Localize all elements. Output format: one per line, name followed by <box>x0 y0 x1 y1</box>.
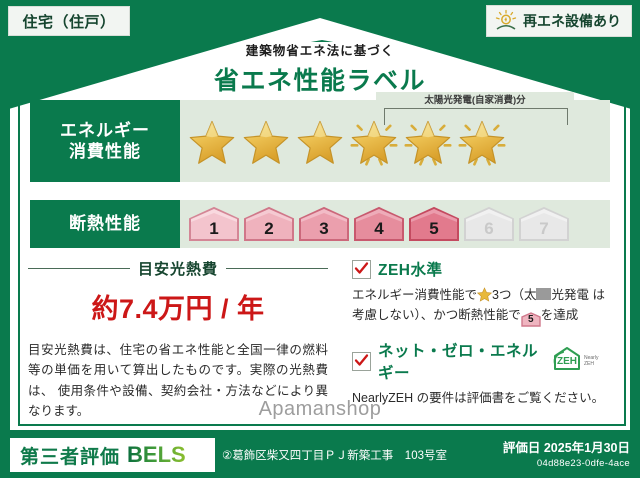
insulation-chip-2: 2 <box>243 206 295 242</box>
zeh-level-heading: ZEH水準 <box>352 258 610 280</box>
sun-icon <box>493 9 519 33</box>
chip-value: 5 <box>429 219 438 239</box>
property-address: ②葛飾区柴又四丁目ＰＪ新築工事 103号室 <box>222 447 447 463</box>
heading-rule-right <box>226 268 328 269</box>
label-title: 建築物省エネ法に基づく 省エネ性能ラベル <box>0 40 640 97</box>
insulation-chip-5: 5 <box>408 206 460 242</box>
star-base <box>186 115 238 167</box>
insulation-performance-row: 断熱性能 1 2 3 4 5 <box>30 200 610 248</box>
insulation-chip-7: 7 <box>518 206 570 242</box>
zeh-level-body: エネルギー消費性能で3つ（太光発電 は考慮しない）、かつ断熱性能で5を達成 <box>352 285 610 327</box>
inline-chip-value: 5 <box>528 314 534 325</box>
utility-cost-heading-text: 目安光熱費 <box>138 258 218 279</box>
zeh-text-a: エネルギー消費性能で <box>352 288 477 302</box>
energy-label-line1: エネルギー <box>60 120 150 141</box>
star-base <box>294 115 346 167</box>
footer-bar: 第三者評価 BELS ②葛飾区柴又四丁目ＰＪ新築工事 103号室 評価日 202… <box>0 432 640 478</box>
energy-label-line2: 消費性能 <box>69 141 141 162</box>
insulation-chip-1: 1 <box>188 206 240 242</box>
energy-performance-label: エネルギー 消費性能 <box>30 100 180 182</box>
svg-text:ZEH: ZEH <box>584 361 594 367</box>
renewable-badge-label: 再エネ設備あり <box>523 11 621 31</box>
utility-cost-heading: 目安光熱費 <box>28 258 328 279</box>
star-solar <box>348 115 400 167</box>
bels-label-page: 住宅（住戸） 再エネ設備あり 建築物省エネ法に基づく 省エネ性能ラベル <box>0 0 640 478</box>
zeh-level-checkbox <box>352 260 371 279</box>
solar-portion-caption: 太陽光発電(自家消費)分 <box>376 92 574 106</box>
chip-value: 2 <box>264 219 273 239</box>
inline-grade-chip: 5 <box>521 312 541 327</box>
evaluation-date-block: 評価日 2025年1月30日 04d88e23-0dfe-4ace <box>503 437 630 469</box>
bels-logo: 第三者評価 BELS <box>10 438 215 472</box>
net-zero-title: ネット・ゼロ・エネルギー <box>378 339 543 383</box>
insulation-label-text: 断熱性能 <box>69 213 141 234</box>
evaluation-date: 評価日 2025年1月30日 <box>503 437 630 456</box>
net-zero-checkbox <box>352 352 371 371</box>
insulation-grade-chips: 1 2 3 4 5 6 7 <box>180 206 570 242</box>
utility-cost-value: 約7.4万円 / 年 <box>28 287 328 326</box>
watermark: Apamanshop <box>0 398 640 421</box>
insulation-performance-body: 1 2 3 4 5 6 7 <box>180 200 610 248</box>
star-solar <box>456 115 508 167</box>
star-solar <box>402 115 454 167</box>
inline-star-icon <box>477 287 492 302</box>
bels-jp-text: 第三者評価 <box>20 442 120 469</box>
energy-performance-body: 太陽光発電(自家消費)分 <box>180 100 610 182</box>
zeh-level-block: ZEH水準 エネルギー消費性能で3つ（太光発電 は考慮しない）、かつ断熱性能で5… <box>352 258 610 327</box>
zeh-level-title: ZEH水準 <box>378 258 443 280</box>
insulation-performance-label: 断熱性能 <box>30 200 180 248</box>
category-tag-label: 住宅（住戸） <box>22 11 115 32</box>
zeh-text-b: 3つ（太 <box>492 288 536 302</box>
zeh-text-c: 光発電 <box>551 288 589 302</box>
chip-value: 6 <box>484 219 493 239</box>
bels-en-text: BELS <box>127 442 186 468</box>
category-tag: 住宅（住戸） <box>8 6 130 36</box>
utility-cost-section: 目安光熱費 約7.4万円 / 年 目安光熱費は、住宅の省エネ性能と全国一律の燃料… <box>28 258 328 421</box>
cost-note-line1: 目安光熱費は、住宅の省エネ性能と全国一律の燃料 <box>28 343 328 357</box>
heading-rule-left <box>28 268 130 269</box>
zeh-text-e: を達成 <box>541 308 579 322</box>
svg-text:ZEH: ZEH <box>557 356 577 367</box>
energy-star-rating <box>180 115 508 167</box>
chip-value: 4 <box>374 219 383 239</box>
renewable-equipment-badge: 再エネ設備あり <box>486 5 632 37</box>
chip-value: 1 <box>209 219 218 239</box>
energy-performance-row: エネルギー 消費性能 太陽光発電(自家消費)分 <box>30 100 610 182</box>
zeh-house-logo: ZEH Nearly ZEH <box>552 346 610 377</box>
chip-value: 3 <box>319 219 328 239</box>
net-zero-heading: ネット・ゼロ・エネルギー ZEH Nearly ZEH <box>352 339 610 383</box>
insulation-chip-3: 3 <box>298 206 350 242</box>
title-subtitle: 建築物省エネ法に基づく <box>0 40 640 59</box>
star-base <box>240 115 292 167</box>
document-id: 04d88e23-0dfe-4ace <box>503 458 630 469</box>
zeh-section: ZEH水準 エネルギー消費性能で3つ（太光発電 は考慮しない）、かつ断熱性能で5… <box>352 258 610 420</box>
insulation-chip-4: 4 <box>353 206 405 242</box>
insulation-chip-6: 6 <box>463 206 515 242</box>
chip-value: 7 <box>539 219 548 239</box>
redacted-block <box>536 288 551 300</box>
